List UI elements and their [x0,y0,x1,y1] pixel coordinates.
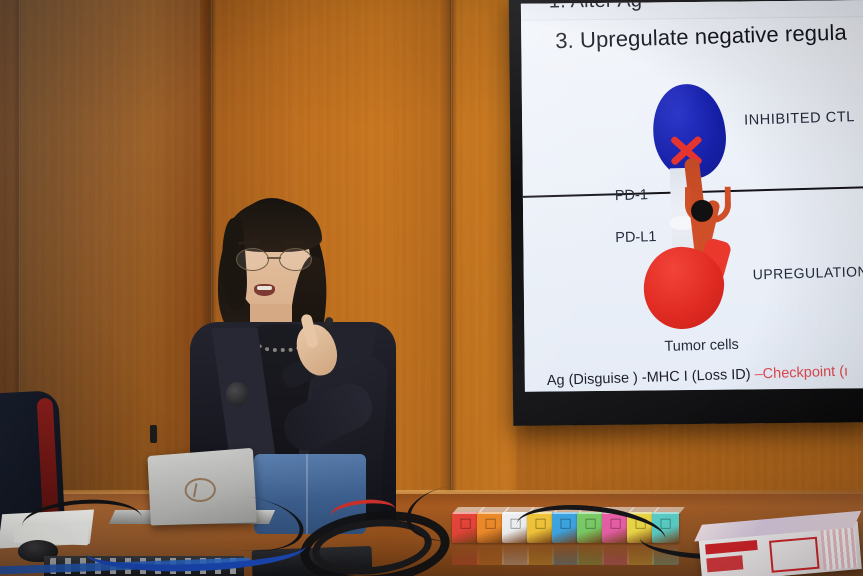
label-pdl1: PD-L1 [615,229,657,246]
glasses [236,248,312,270]
glasses-bridge [267,257,281,259]
product-box-red-block [706,555,743,572]
presentation-photo-scene: □□□□□□□□□ 1. Alter Ag 3. Upregulate nega… [0,0,863,576]
slide-footer-black: Ag (Disguise ) -MHC I (Loss ID) [547,366,755,389]
screen-display-area: 1. Alter Ag 3. Upregulate negative regul… [521,0,863,392]
label-tumor-cells: Tumor cells [664,337,739,355]
cube-2: □ [477,512,504,543]
product-box-red-band [705,540,758,554]
cube-1: □ [452,512,479,543]
glasses-lens-right [279,248,312,271]
glasses-lens-left [236,248,269,271]
product-box [698,521,862,576]
product-box-frame [769,537,820,573]
label-pd1: PD-1 [615,187,648,204]
label-inhibited-ctl: INHIBITED CTL [744,109,855,128]
wall-mounted-screen[interactable]: 1. Alter Ag 3. Upregulate negative regul… [509,0,863,426]
jeans-seam [306,454,308,534]
label-upregulation: UPREGULATION [752,263,863,282]
product-box-stripes [820,527,857,570]
receptor-node [691,200,713,222]
clip-on-microphone [226,382,248,406]
mouth [254,284,275,296]
screen-cable-drop [150,425,157,443]
slide-footer-red: –Checkpoint (ı [754,364,848,383]
presentation-slide: 1. Alter Ag 3. Upregulate negative regul… [521,0,863,392]
cube-glyph: □ [452,516,479,531]
slide-footer: Ag (Disguise ) -MHC I (Loss ID) –Checkpo… [525,362,863,390]
cube-glyph: □ [477,516,504,531]
slide-previous-title: 1. Alter Ag [549,0,643,13]
cube-reflection [477,543,504,565]
cube-reflection [452,543,479,565]
slide-title: 3. Upregulate negative regula [555,20,847,55]
